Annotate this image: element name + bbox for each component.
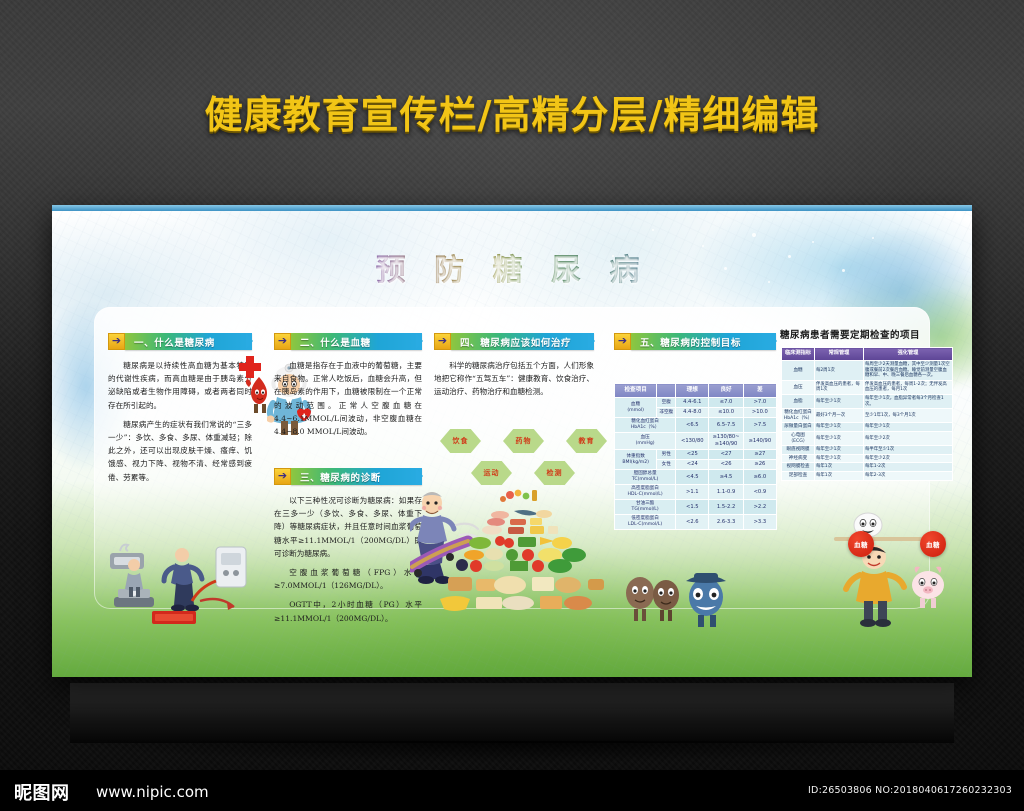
section-3-title-bar: 三、糖尿病的诊断 <box>291 468 422 485</box>
cell-poor: >2.2 <box>743 500 776 515</box>
cell-poor: >7.0 <box>743 398 776 408</box>
cell-routine: 每年至少1次 <box>815 431 864 445</box>
cell-poor: ≥26 <box>743 460 776 470</box>
cell-item: 体重指数 BMI(kg/m2) <box>615 450 657 470</box>
control-th-4: 差 <box>743 384 776 398</box>
cell-intensive: 每年2-3次 <box>864 471 953 480</box>
cell-indicator: 糖化血红蛋白 HbA1c（%） <box>782 409 815 423</box>
banner: 健康教育宣传栏/高精分层/精细编辑 <box>0 84 1024 139</box>
table-row: 眼底视网膜每年至少1次每半年至少1次 <box>782 446 953 455</box>
cell-sub: 女性 <box>657 460 676 470</box>
section-3-para-2: 空腹血浆葡萄糖（FPG）水平≥7.0MMOL/1（126MG/DL）。 <box>274 566 422 592</box>
cell-intensive: 每年至少1次，血脂异常者每3个月检查1次。 <box>864 394 953 408</box>
cell-ideal: <1.5 <box>676 500 709 515</box>
billboard-base <box>70 683 954 743</box>
section-2: ➔ 二、什么是血糖 血糖是指存在于血液中的葡萄糖，主要来自食物。正常人吃饭后，血… <box>274 333 422 444</box>
section-4-title-bar: 四、糖尿病应该如何治疗 <box>451 333 594 350</box>
table-row: 血糖 (mmol)空腹4.4-6.1≤7.0>7.0 <box>615 398 777 408</box>
status-badge-blood-sugar-1: 血糖 <box>848 531 874 557</box>
table-row: 糖化血红蛋白 HbA1c（%）最好3个月一次至少1年1次，每3个月1次 <box>782 409 953 423</box>
arrow-right-icon: ➔ <box>614 333 631 350</box>
cell-poor: >7.5 <box>743 418 776 433</box>
section-2-title-bar: 二、什么是血糖 <box>291 333 422 350</box>
section-1-title-bar: 一、什么是糖尿病 <box>125 333 252 350</box>
cell-good: ≥4.5 <box>709 470 743 485</box>
section-3: ➔ 三、糖尿病的诊断 以下三种性况可诊断为糖尿病：如果存在三多一少（多饮、多食、… <box>274 468 422 631</box>
cell-intensive: 每年至少2次 <box>864 431 953 445</box>
section-5-title: 五、糖尿病的控制目标 <box>631 335 741 349</box>
cell-good: 6.5-7.5 <box>709 418 743 433</box>
table-row: 血压伴发高血压的患者，每周1次伴发高血压的患者，每周1-2次；无伴发高血压的患者… <box>782 380 953 394</box>
section-4-para-plain: 科学的糖尿病治疗包括五个方面，人们形象地把它称作“五驾五车”：健康教育、饮食治疗… <box>434 361 594 396</box>
arrow-right-icon: ➔ <box>434 333 451 350</box>
cell-poor: >3.3 <box>743 515 776 530</box>
cell-intensive: 每半年至少1次 <box>864 446 953 455</box>
cell-ideal: <2.6 <box>676 515 709 530</box>
cell-good: 1.1-0.9 <box>709 485 743 500</box>
section-4-title: 四、糖尿病应该如何治疗 <box>451 335 571 349</box>
cell-poor: >10.0 <box>743 408 776 418</box>
status-badge-blood-sugar-2: 血糖 <box>920 531 946 557</box>
table-row: 体重指数 BMI(kg/m2)男性<25<27≥27 <box>615 450 777 460</box>
cell-ideal: <130/80 <box>676 433 709 450</box>
mascot-group-illustration <box>624 563 754 631</box>
section-3-para-3: OGTT中，2小时血糖（PG）水平≥11.1MMOL/1（200MG/DL）。 <box>274 598 422 624</box>
cell-ideal: 4.4-8.0 <box>676 408 709 418</box>
cell-poor: ≥140/90 <box>743 433 776 450</box>
running-man-figure <box>164 548 202 612</box>
section-3-body: 以下三种性况可诊断为糖尿病：如果存在三多一少（多饮、多食、多尿、体重下降）等糖尿… <box>274 494 422 625</box>
cell-poor: ≥27 <box>743 450 776 460</box>
red-cross-icon <box>239 356 261 378</box>
poster-title-text: 预 防 糖 尿 病 <box>376 245 649 289</box>
section-2-body: 血糖是指存在于血液中的葡萄糖，主要来自食物。正常人吃饭后，血糖会升高，但在胰岛素… <box>274 359 422 438</box>
section-5-title-bar: 五、糖尿病的控制目标 <box>631 333 776 350</box>
cell-indicator: 眼底视网膜 <box>782 446 815 455</box>
cell-routine: 每年至少1次 <box>815 454 864 463</box>
section-1-para-2: 糖尿病产生的症状有我们常说的“三多一少”：多饮、多食、多尿、体重减轻；除此之外，… <box>108 418 252 484</box>
blood-drop-mascot <box>246 377 267 413</box>
cell-sub: 男性 <box>657 450 676 460</box>
cell-intensive: 每年至少2次 <box>864 454 953 463</box>
checkup-th-0: 临床测指标 <box>782 348 815 361</box>
table-row: 足部检查每年1次每年2-3次 <box>782 471 953 480</box>
red-banner <box>152 611 196 624</box>
cell-poor: ≥6.0 <box>743 470 776 485</box>
control-th-0: 检查项目 <box>615 384 657 398</box>
elderly-couple-illustration: 血糖 血糖 <box>820 503 960 633</box>
control-target-table: 检查项目 理想 良好 差 血糖 (mmol)空腹4.4-6.1≤7.0>7.0 … <box>614 383 777 530</box>
section-2-para-1: 血糖是指存在于血液中的葡萄糖，主要来自食物。正常人吃饭后，血糖会升高，但在胰岛素… <box>274 359 422 438</box>
cell-routine: 每年1次 <box>815 463 864 472</box>
table-row: 胆固醇总量 TC(mmol/L)<4.5≥4.5≥6.0 <box>615 470 777 485</box>
section-2-title: 二、什么是血糖 <box>291 335 371 349</box>
checkup-th-1: 常规管理 <box>815 348 864 361</box>
arrow-right-icon: ➔ <box>274 333 291 350</box>
cell-item: 血压 (mmHg) <box>615 433 676 450</box>
cell-sub: 空腹 <box>657 398 676 408</box>
cell-ideal: >1.1 <box>676 485 709 500</box>
cell-item: 甘油三酯 TG(mmol/L) <box>615 500 676 515</box>
mascot-brown-2 <box>653 580 679 621</box>
cell-intensive: 伴发高血压的患者，每周1-2次；无伴发高血压的患者，每月1次 <box>864 380 953 394</box>
control-table-body: 血糖 (mmol)空腹4.4-6.1≤7.0>7.0 非空腹4.4-8.0≤10… <box>615 398 777 530</box>
arrow-right-icon: ➔ <box>274 468 291 485</box>
cell-good: ≥130/80~ ≥140/90 <box>709 433 743 450</box>
cell-routine: 每年至少1次 <box>815 423 864 432</box>
table-row: 甘油三酯 TG(mmol/L)<1.51.5-2.2>2.2 <box>615 500 777 515</box>
cell-routine: 每2周1次 <box>815 361 864 381</box>
section-1-header: ➔ 一、什么是糖尿病 <box>108 333 252 350</box>
checkup-th-2: 强化管理 <box>864 348 953 361</box>
table-row: 糖化血红蛋白 HbA1c（%）<6.56.5-7.5>7.5 <box>615 418 777 433</box>
cell-routine: 每年1次 <box>815 471 864 480</box>
section-3-para-1: 以下三种性况可诊断为糖尿病：如果存在三多一少（多饮、多食、多尿、体重下降）等糖尿… <box>274 494 422 560</box>
table-row: 心电图（ECG）每年至少1次每年至少2次 <box>782 431 953 445</box>
mascot-blue-hat <box>686 573 726 627</box>
section-3-title: 三、糖尿病的诊断 <box>291 470 381 484</box>
cell-ideal: <4.5 <box>676 470 709 485</box>
section-2-header: ➔ 二、什么是血糖 <box>274 333 422 350</box>
hexagon-diet[interactable]: 饮食 <box>440 429 481 453</box>
checkup-table-header-row: 临床测指标 常规管理 强化管理 <box>782 348 953 361</box>
cell-ideal: <6.5 <box>676 418 709 433</box>
section-4-para-1: 科学的糖尿病治疗包括五个方面，人们形象地把它称作“五驾五车”：健康教育、饮食治疗… <box>434 359 594 399</box>
image-id-number: ID:26503806 NO:2018040617260232303 <box>808 785 1012 796</box>
cell-routine: 最好3个月一次 <box>815 409 864 423</box>
section-1-title: 一、什么是糖尿病 <box>125 335 215 349</box>
pig-mascot <box>912 567 944 608</box>
section-5-header: ➔ 五、糖尿病的控制目标 <box>614 333 776 350</box>
section-1-body: 糖尿病是以持续性高血糖为基本特征的代谢性疾病，而高血糖是由于胰岛素分泌缺陷或者生… <box>108 359 252 484</box>
section-1-para-1: 糖尿病是以持续性高血糖为基本特征的代谢性疾病，而高血糖是由于胰岛素分泌缺陷或者生… <box>108 359 252 412</box>
cell-routine: 每年至少1次 <box>815 446 864 455</box>
cell-good: 2.6-3.3 <box>709 515 743 530</box>
cell-indicator: 血压 <box>782 380 815 394</box>
cell-item: 血糖 (mmol) <box>615 398 657 418</box>
cell-indicator: 尿微量白蛋白 <box>782 423 815 432</box>
cell-poor: <0.9 <box>743 485 776 500</box>
cell-good: 1.5-2.2 <box>709 500 743 515</box>
checkup-table-body: 血糖每2周1次每周至少2天测量血糖，其中至少测量1次空腹或餐前2次餐后血糖。睡觉… <box>782 361 953 481</box>
food-pyramid <box>440 490 604 611</box>
cell-indicator: 视网膜检查 <box>782 463 815 472</box>
hexagon-education[interactable]: 教育 <box>566 429 607 453</box>
nipic-logo: 昵图网 <box>14 779 70 805</box>
section-4-header: ➔ 四、糖尿病应该如何治疗 <box>434 333 594 350</box>
poster-canvas: 预 防 糖 尿 病 ➔ 一、什么是糖尿病 糖尿病是以持续性高血糖为基本特征的代谢… <box>52 211 972 677</box>
section-5: ➔ 五、糖尿病的控制目标 <box>614 333 776 350</box>
cell-good: <27 <box>709 450 743 460</box>
control-th-2: 理想 <box>676 384 709 398</box>
food-pyramid-illustration <box>410 481 620 641</box>
cell-item: 糖化血红蛋白 HbA1c（%） <box>615 418 676 433</box>
cell-intensive: 每年1-2次 <box>864 463 953 472</box>
cell-intensive: 至少1年1次，每3个月1次 <box>864 409 953 423</box>
arrow-right-icon: ➔ <box>108 333 125 350</box>
cell-item: 低密度脂蛋白 LDL-C(mmol/L) <box>615 515 676 530</box>
cell-indicator: 血糖 <box>782 361 815 381</box>
nipic-url: www.nipic.com <box>96 783 209 801</box>
poster-title: 预 防 糖 尿 病 <box>52 245 972 289</box>
lifestyle-illustration <box>108 531 278 631</box>
cell-item: 胆固醇总量 TC(mmol/L) <box>615 470 676 485</box>
section-4-body: 科学的糖尿病治疗包括五个方面，人们形象地把它称作“五驾五车”：健康教育、饮食治疗… <box>434 359 594 399</box>
cell-routine: 伴发高血压的患者，每周1次 <box>815 380 864 394</box>
cell-good: ≤10.0 <box>709 408 743 418</box>
table-row: 尿微量白蛋白每年至少1次每年至少1次 <box>782 423 953 432</box>
cell-good: ≤7.0 <box>709 398 743 408</box>
cell-ideal: <25 <box>676 450 709 460</box>
mascot-brown-1 <box>626 577 654 621</box>
cell-routine: 每年至少1次 <box>815 394 864 408</box>
elderly-man-figure <box>846 545 904 627</box>
checkup-table-title: 糖尿病患者需要定期检查的项目 <box>780 327 920 341</box>
cell-item: 高密度脂蛋白 HDL-C(mmol/L) <box>615 485 676 500</box>
weighing-scale <box>114 589 154 607</box>
section-4: ➔ 四、糖尿病应该如何治疗 科学的糖尿病治疗包括五个方面，人们形象地把它称作“五… <box>434 333 594 405</box>
cell-sub: 非空腹 <box>657 408 676 418</box>
cell-indicator: 血脂 <box>782 394 815 408</box>
footer-watermark: 昵图网 www.nipic.com ID:26503806 NO:2018040… <box>0 770 1024 811</box>
cell-good: <26 <box>709 460 743 470</box>
table-row: 低密度脂蛋白 LDL-C(mmol/L)<2.62.6-3.3>3.3 <box>615 515 777 530</box>
cell-intensive: 每年至少1次 <box>864 423 953 432</box>
section-1: ➔ 一、什么是糖尿病 糖尿病是以持续性高血糖为基本特征的代谢性疾病，而高血糖是由… <box>108 333 252 490</box>
hexagon-medicine[interactable]: 药物 <box>503 429 544 453</box>
table-row: 血糖每2周1次每周至少2天测量血糖，其中至少测量1次空腹或餐前2次餐后血糖。睡觉… <box>782 361 953 381</box>
table-row: 血压 (mmHg)<130/80≥130/80~ ≥140/90≥140/90 <box>615 433 777 450</box>
cell-indicator: 心电图（ECG） <box>782 431 815 445</box>
control-th-1 <box>657 384 676 398</box>
cell-ideal: 4.4-6.1 <box>676 398 709 408</box>
checkup-table: 临床测指标 常规管理 强化管理 血糖每2周1次每周至少2天测量血糖，其中至少测量… <box>781 347 953 481</box>
banner-title: 健康教育宣传栏/高精分层/精细编辑 <box>205 84 820 139</box>
table-row: 高密度脂蛋白 HDL-C(mmol/L)>1.11.1-0.9<0.9 <box>615 485 777 500</box>
control-table-header-row: 检查项目 理想 良好 差 <box>615 384 777 398</box>
cell-intensive: 每周至少2天测量血糖，其中至少测量1次空腹或餐前2次餐后血糖。睡觉前测量空腹血糖… <box>864 361 953 381</box>
treatment-hexagons: 饮食 药物 教育 运动 检测 <box>440 429 610 487</box>
cell-indicator: 足部检查 <box>782 471 815 480</box>
table-row: 视网膜检查每年1次每年1-2次 <box>782 463 953 472</box>
table-row: 神经病变每年至少1次每年至少2次 <box>782 454 953 463</box>
cell-ideal: <24 <box>676 460 709 470</box>
section-3-header: ➔ 三、糖尿病的诊断 <box>274 468 422 485</box>
table-row: 血脂每年至少1次每年至少1次，血脂异常者每3个月检查1次。 <box>782 394 953 408</box>
cell-indicator: 神经病变 <box>782 454 815 463</box>
billboard: 预 防 糖 尿 病 ➔ 一、什么是糖尿病 糖尿病是以持续性高血糖为基本特征的代谢… <box>52 205 972 677</box>
control-th-3: 良好 <box>709 384 743 398</box>
